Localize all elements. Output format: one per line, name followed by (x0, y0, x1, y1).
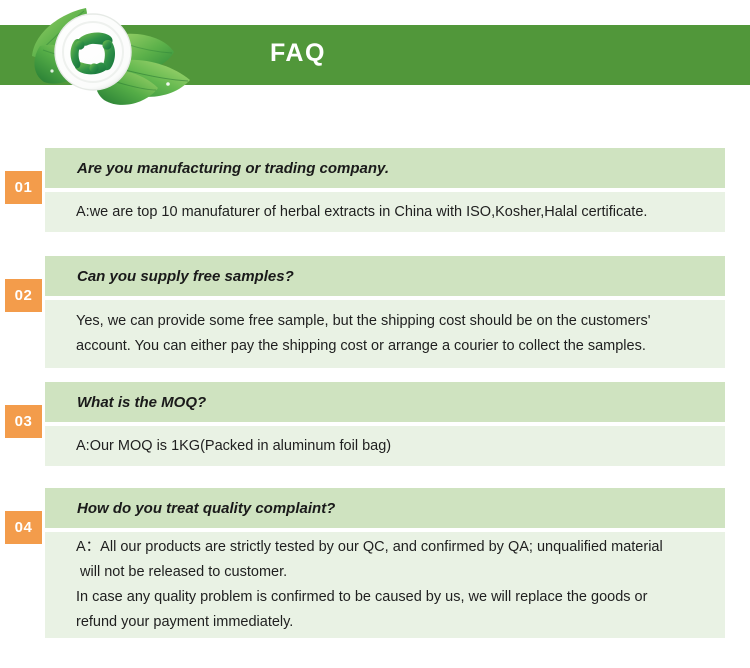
faq-answer-line: Yes, we can provide some free sample, bu… (76, 309, 707, 334)
faq-question-row[interactable]: What is the MOQ? (45, 382, 725, 422)
faq-number-badge: 04 (5, 511, 42, 544)
faq-question-text: How do you treat quality complaint? (77, 500, 335, 517)
logo-circle-badge (55, 14, 131, 90)
faq-answer-line: refund your payment immediately. (76, 610, 707, 635)
faq-answer-row: A:we are top 10 manufaturer of herbal ex… (45, 192, 725, 232)
faq-question-text: Can you supply free samples? (77, 268, 294, 285)
faq-answer-row: Yes, we can provide some free sample, bu… (45, 300, 725, 368)
faq-answer-line: account. You can either pay the shipping… (76, 334, 707, 359)
faq-answer-row: A:Our MOQ is 1KG(Packed in aluminum foil… (45, 426, 725, 466)
company-logo (18, 0, 218, 110)
page-title: FAQ (270, 39, 326, 68)
faq-answer-line: In case any quality problem is confirmed… (76, 585, 707, 610)
faq-question-row[interactable]: How do you treat quality complaint? (45, 488, 725, 528)
faq-question-row[interactable]: Are you manufacturing or trading company… (45, 148, 725, 188)
faq-number-badge: 03 (5, 405, 42, 438)
faq-question-text: What is the MOQ? (77, 394, 206, 411)
faq-answer-line: A：All our products are strictly tested b… (76, 535, 707, 560)
faq-answer-line: will not be released to customer. (76, 560, 707, 585)
faq-answer-line: A:we are top 10 manufaturer of herbal ex… (76, 200, 707, 225)
faq-number-badge: 01 (5, 171, 42, 204)
faq-answer-row: A：All our products are strictly tested b… (45, 532, 725, 638)
faq-question-text: Are you manufacturing or trading company… (77, 160, 389, 177)
faq-number-badge: 02 (5, 279, 42, 312)
faq-answer-line: A:Our MOQ is 1KG(Packed in aluminum foil… (76, 434, 707, 459)
page-header: FAQ (0, 0, 750, 112)
faq-question-row[interactable]: Can you supply free samples? (45, 256, 725, 296)
